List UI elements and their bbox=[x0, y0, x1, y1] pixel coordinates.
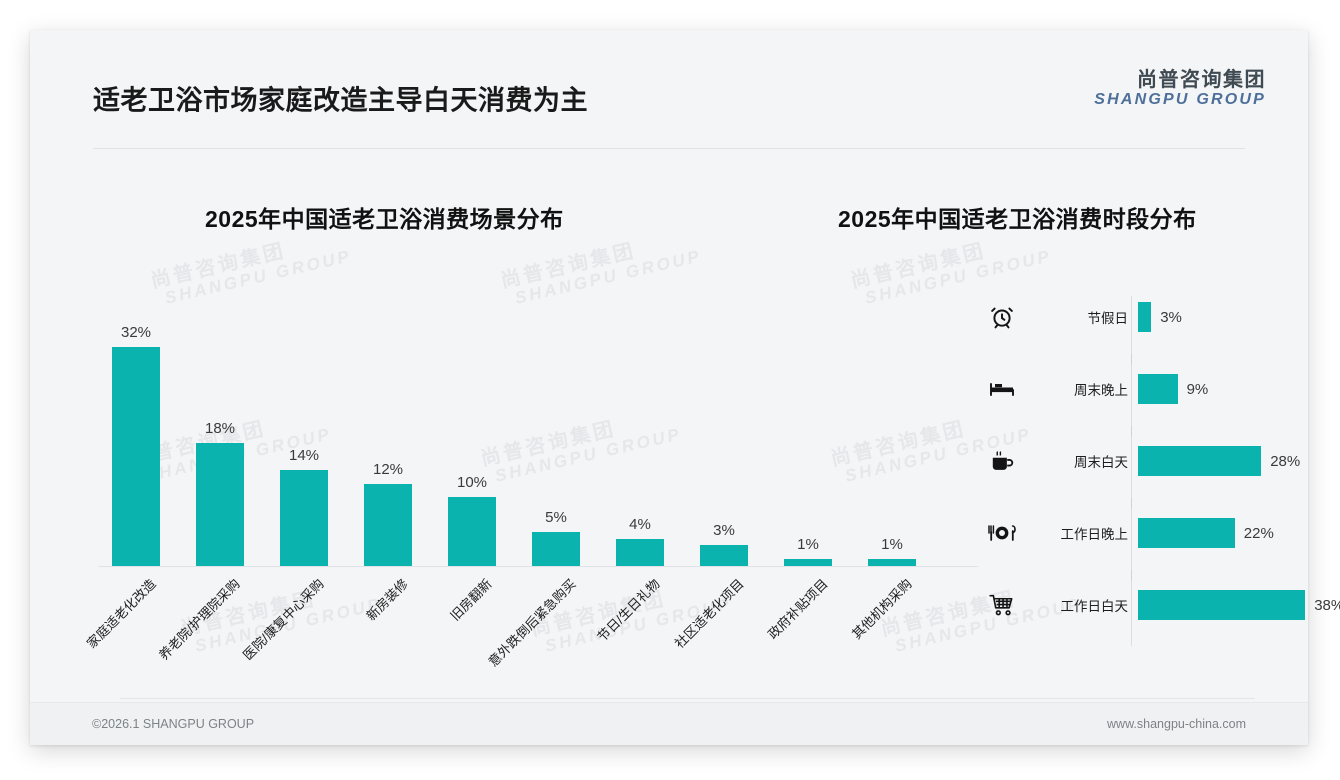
copyright-text: ©2026.1 SHANGPU GROUP bbox=[92, 717, 254, 731]
category-label-anchor: 其他机构采购 bbox=[902, 574, 903, 575]
brand-logo: 尚普咨询集团 SHANGPU GROUP bbox=[1094, 70, 1266, 109]
bar-column[interactable]: 14% bbox=[280, 447, 328, 566]
x-axis-line bbox=[98, 566, 978, 567]
bar[interactable] bbox=[532, 532, 580, 566]
bar-value-label: 14% bbox=[289, 447, 319, 464]
bar-track: 28% bbox=[1138, 442, 1310, 480]
bar-column[interactable]: 1% bbox=[784, 536, 832, 566]
bar-column[interactable]: 1% bbox=[868, 536, 916, 566]
category-label-anchor: 家庭适老化改造 bbox=[146, 574, 147, 575]
category-label-anchor: 意外跌倒后紧急购买 bbox=[566, 574, 567, 575]
bar[interactable] bbox=[868, 559, 916, 566]
right-chart-title: 2025年中国适老卫浴消费时段分布 bbox=[838, 200, 1197, 234]
plate-cutlery-icon bbox=[980, 521, 1024, 545]
brand-logo-en: SHANGPU GROUP bbox=[1094, 92, 1266, 109]
bar[interactable] bbox=[1138, 518, 1235, 548]
bar-value-label: 12% bbox=[373, 461, 403, 478]
category-label: 其他机构采购 bbox=[847, 574, 916, 643]
timeslot-label: 工作日白天 bbox=[1024, 595, 1138, 615]
timeslot-row[interactable]: 节假日3% bbox=[980, 298, 1310, 336]
timeslot-row[interactable]: 工作日白天38% bbox=[980, 586, 1310, 624]
timeslot-row[interactable]: 周末白天28% bbox=[980, 442, 1310, 480]
page-title: 适老卫浴市场家庭改造主导白天消费为主 bbox=[93, 79, 588, 118]
bed-icon bbox=[980, 376, 1024, 402]
category-label: 政府补贴项目 bbox=[763, 574, 832, 643]
bar-track: 22% bbox=[1138, 514, 1310, 552]
bar-value-label: 38% bbox=[1314, 597, 1340, 614]
bar-value-label: 18% bbox=[205, 420, 235, 437]
bar-value-label: 3% bbox=[1160, 309, 1182, 326]
bar-value-label: 1% bbox=[797, 536, 819, 553]
timeslot-label: 节假日 bbox=[1024, 307, 1138, 327]
category-label-anchor: 社区适老化项目 bbox=[734, 574, 735, 575]
consumption-timeslot-bar-chart: 节假日3%周末晚上9%周末白天28%工作日晚上22%工作日白天38% bbox=[980, 292, 1310, 650]
category-label-anchor: 政府补贴项目 bbox=[818, 574, 819, 575]
header-divider bbox=[93, 148, 1245, 149]
bar-column[interactable]: 18% bbox=[196, 420, 244, 566]
slide-footer: ©2026.1 SHANGPU GROUP www.shangpu-china.… bbox=[30, 702, 1308, 745]
axis-tick bbox=[1131, 498, 1132, 508]
bar[interactable] bbox=[1138, 590, 1305, 620]
axis-tick bbox=[1131, 570, 1132, 580]
bar-value-label: 1% bbox=[881, 536, 903, 553]
category-label-anchor: 养老院/护理院采购 bbox=[230, 574, 231, 575]
bar[interactable] bbox=[112, 347, 160, 566]
bar-value-label: 10% bbox=[457, 474, 487, 491]
timeslot-label: 工作日晚上 bbox=[1024, 523, 1138, 543]
hot-beverage-icon bbox=[980, 448, 1024, 474]
bar-column[interactable]: 4% bbox=[616, 516, 664, 566]
bar-value-label: 5% bbox=[545, 509, 567, 526]
consumption-scenario-bar-chart: 32%18%14%12%10%5%4%3%1%1% bbox=[98, 292, 978, 567]
bar-column[interactable]: 10% bbox=[448, 474, 496, 566]
bar[interactable] bbox=[196, 443, 244, 566]
category-label-anchor: 旧房翻新 bbox=[482, 574, 483, 575]
bar-column[interactable]: 5% bbox=[532, 509, 580, 566]
category-label: 旧房翻新 bbox=[445, 574, 495, 624]
category-label: 社区适老化项目 bbox=[670, 574, 748, 652]
timeslot-label: 周末晚上 bbox=[1024, 379, 1138, 399]
bar-column[interactable]: 3% bbox=[700, 522, 748, 566]
category-label-anchor: 医院/康复中心采购 bbox=[314, 574, 315, 575]
bar[interactable] bbox=[784, 559, 832, 566]
bar[interactable] bbox=[280, 470, 328, 566]
left-chart-title: 2025年中国适老卫浴消费场景分布 bbox=[205, 200, 564, 234]
category-label-anchor: 新房装修 bbox=[398, 574, 399, 575]
bar-column[interactable]: 12% bbox=[364, 461, 412, 566]
footnote-divider bbox=[120, 698, 1255, 699]
alarm-clock-icon bbox=[980, 304, 1024, 330]
shopping-cart-icon bbox=[980, 592, 1024, 618]
category-label: 家庭适老化改造 bbox=[82, 574, 160, 652]
category-label: 养老院/护理院采购 bbox=[154, 574, 244, 664]
bar-value-label: 32% bbox=[121, 324, 151, 341]
bar-value-label: 9% bbox=[1187, 381, 1209, 398]
bar-column[interactable]: 32% bbox=[112, 324, 160, 566]
slide-header: 适老卫浴市场家庭改造主导白天消费为主 尚普咨询集团 SHANGPU GROUP bbox=[30, 30, 1308, 120]
bar-track: 9% bbox=[1138, 370, 1310, 408]
axis-tick bbox=[1131, 354, 1132, 364]
category-label-anchor: 节日/生日礼物 bbox=[650, 574, 651, 575]
category-label: 新房装修 bbox=[361, 574, 411, 624]
brand-logo-cn: 尚普咨询集团 bbox=[1094, 70, 1266, 91]
website-link[interactable]: www.shangpu-china.com bbox=[1107, 717, 1246, 731]
bar-track: 38% bbox=[1138, 586, 1340, 624]
bar[interactable] bbox=[1138, 446, 1261, 476]
bar-value-label: 4% bbox=[629, 516, 651, 533]
bar-value-label: 3% bbox=[713, 522, 735, 539]
timeslot-row[interactable]: 工作日晚上22% bbox=[980, 514, 1310, 552]
category-label: 医院/康复中心采购 bbox=[238, 574, 328, 664]
category-label: 节日/生日礼物 bbox=[592, 574, 663, 645]
bar-track: 3% bbox=[1138, 298, 1310, 336]
bar[interactable] bbox=[1138, 302, 1151, 332]
category-label: 意外跌倒后紧急购买 bbox=[483, 574, 579, 670]
axis-tick bbox=[1131, 426, 1132, 436]
bar[interactable] bbox=[700, 545, 748, 566]
timeslot-row[interactable]: 周末晚上9% bbox=[980, 370, 1310, 408]
bar-value-label: 28% bbox=[1270, 453, 1300, 470]
slide-page: 尚普咨询集团 SHANGPU GROUP 尚普咨询集团 SHANGPU GROU… bbox=[30, 30, 1308, 745]
bar-value-label: 22% bbox=[1244, 525, 1274, 542]
timeslot-label: 周末白天 bbox=[1024, 451, 1138, 471]
bar[interactable] bbox=[1138, 374, 1178, 404]
bar[interactable] bbox=[448, 497, 496, 566]
bar[interactable] bbox=[364, 484, 412, 566]
bar[interactable] bbox=[616, 539, 664, 566]
